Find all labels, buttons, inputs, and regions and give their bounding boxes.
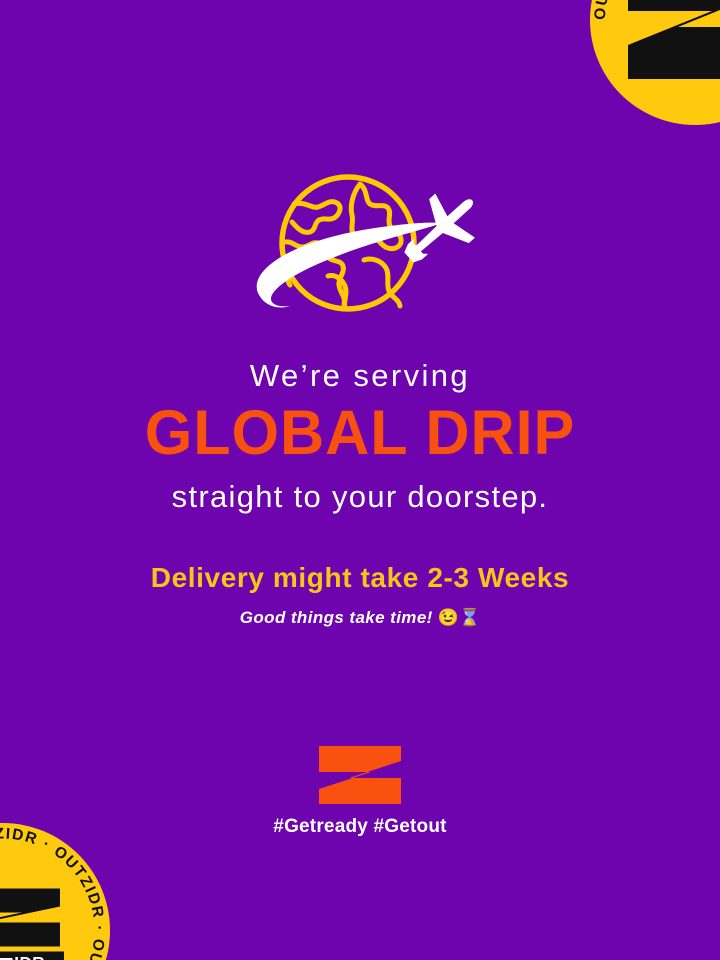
seal-core-top-right xyxy=(620,0,720,95)
seal-wordmark-after: IDR xyxy=(14,955,45,960)
hashtags-text: #Getready #Getout xyxy=(0,816,720,839)
delivery-notice-text: Delivery might take 2-3 Weeks xyxy=(24,561,696,595)
delivery-notice-subtext: Good things take time! 😉⌛ xyxy=(24,608,696,628)
promo-poster: OUTZIDR · OUTZIDR · OUTZIDR · OUTZIDR · … xyxy=(0,0,720,960)
headline-text: GLOBAL DRIP xyxy=(34,402,686,465)
outzidr-seal-bottom-left: OUTZIDR · OUTZIDR · OUTZIDR · OUTZIDR · … xyxy=(0,823,110,960)
outzidr-z-logo-icon xyxy=(319,746,401,804)
hero-artwork xyxy=(0,168,720,334)
seal-core-bottom-left: OUT IDR xyxy=(0,886,66,960)
outzidr-z-logo-icon xyxy=(620,0,720,95)
outzidr-z-logo-icon xyxy=(0,886,62,948)
seal-wordmark-bottom-left: OUT IDR xyxy=(0,951,64,960)
copy-block: We’re serving GLOBAL DRIP straight to yo… xyxy=(0,358,720,628)
outzidr-seal-top-right: OUTZIDR · OUTZIDR · OUTZIDR · OUTZIDR · xyxy=(590,0,720,125)
globe-airplane-illustration xyxy=(242,168,478,334)
footer-lockup: #Getready #Getout xyxy=(0,746,720,839)
notice-sub-label: Good things take time! xyxy=(240,608,433,627)
subline-text: straight to your doorstep. xyxy=(24,479,696,515)
kicker-text: We’re serving xyxy=(24,358,696,394)
wink-hourglass-emoji: 😉⌛ xyxy=(438,608,480,627)
